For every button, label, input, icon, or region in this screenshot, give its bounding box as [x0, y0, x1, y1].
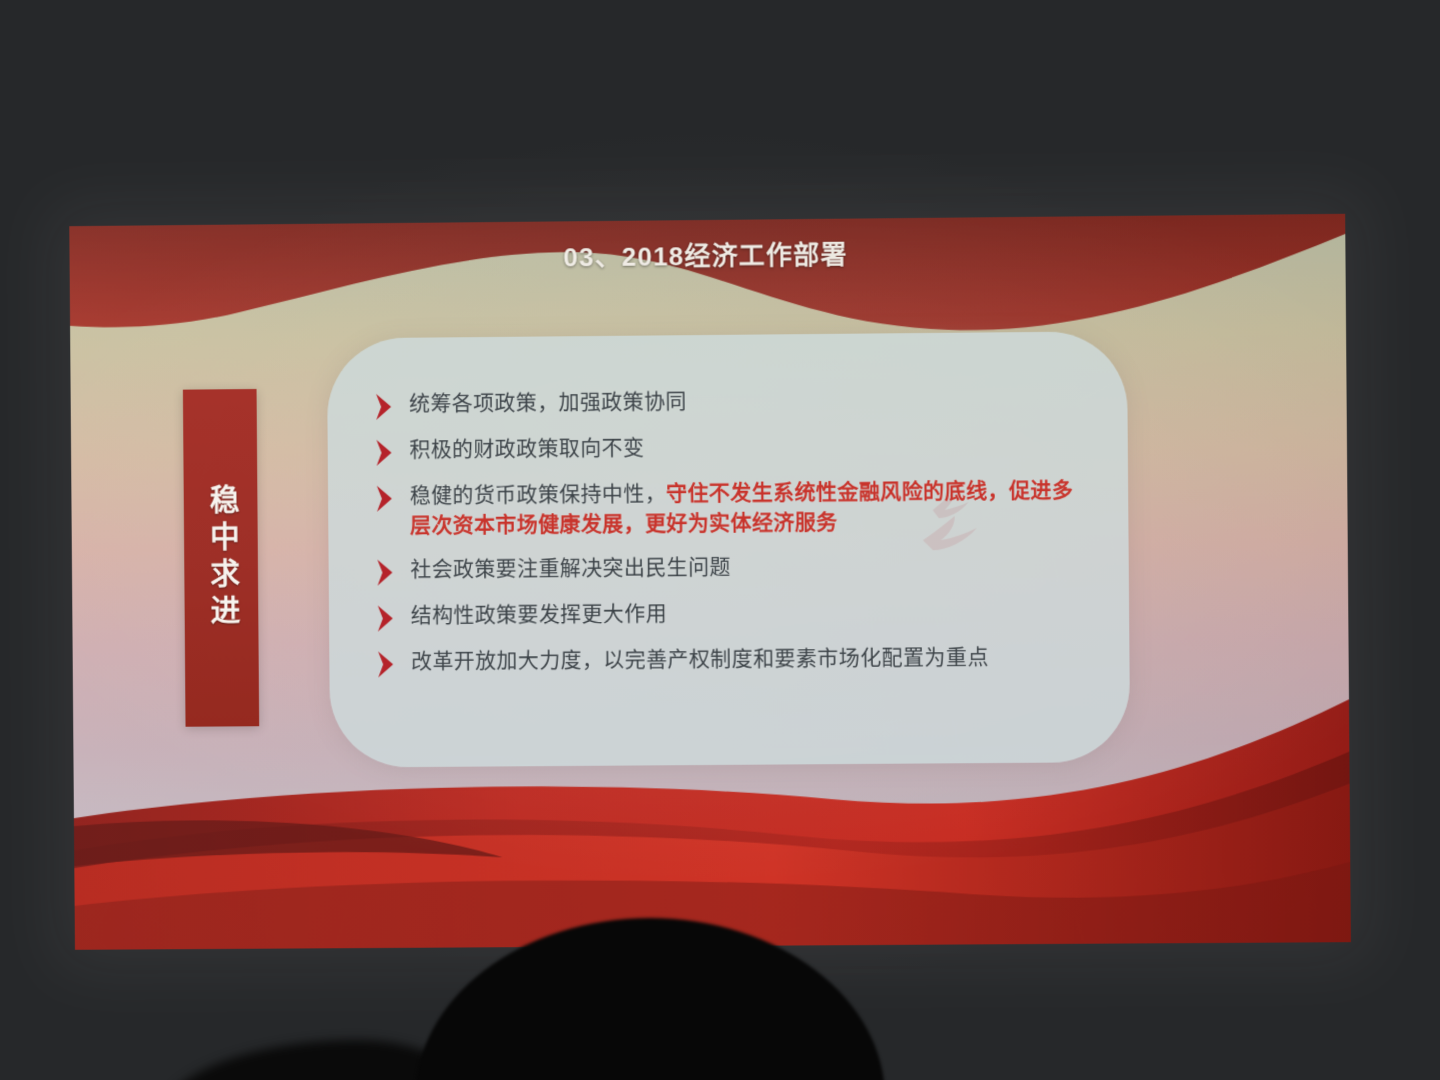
side-banner: 稳中求进: [183, 389, 259, 727]
list-item: 稳健的货币政策保持中性，守住不发生系统性金融风险的底线，促进多层次资本市场健康发…: [374, 476, 1095, 542]
chevron-right-icon: [374, 484, 396, 514]
chevron-right-icon: [374, 557, 396, 587]
bullet-text: 社会政策要注重解决突出民生问题: [410, 552, 731, 584]
chevron-right-icon: [375, 603, 397, 633]
list-item: 改革开放加大力度，以完善产权制度和要素市场化配置为重点: [375, 642, 1095, 679]
content-card: 统筹各项政策，加强政策协同 积极的财政政策取向不变 稳健的货币政策保持中性，守住…: [327, 331, 1130, 767]
bullet-text: 统筹各项政策，加强政策协同: [409, 387, 687, 419]
bullet-text: 积极的财政政策取向不变: [409, 434, 644, 466]
side-banner-label: 稳中求进: [199, 484, 244, 632]
chevron-right-icon: [375, 649, 397, 679]
list-item: 社会政策要注重解决突出民生问题: [374, 550, 1094, 588]
bullet-text: 稳健的货币政策保持中性，守住不发生系统性金融风险的底线，促进多层次资本市场健康发…: [410, 476, 1095, 541]
bullet-list: 统筹各项政策，加强政策协同 积极的财政政策取向不变 稳健的货币政策保持中性，守住…: [373, 384, 1095, 679]
chevron-right-icon: [373, 392, 395, 422]
list-item: 结构性政策要发挥更大作用: [375, 596, 1095, 634]
bullet-text: 结构性政策要发挥更大作用: [411, 599, 668, 631]
chevron-right-icon: [373, 438, 395, 468]
list-item: 统筹各项政策，加强政策协同: [373, 384, 1093, 422]
bullet-text: 改革开放加大力度，以完善产权制度和要素市场化配置为重点: [411, 643, 989, 677]
projection-room-photo: 03、2018经济工作部署: [0, 0, 1440, 1080]
list-item: 积极的财政政策取向不变: [373, 430, 1093, 468]
projected-slide: 03、2018经济工作部署: [69, 214, 1351, 950]
